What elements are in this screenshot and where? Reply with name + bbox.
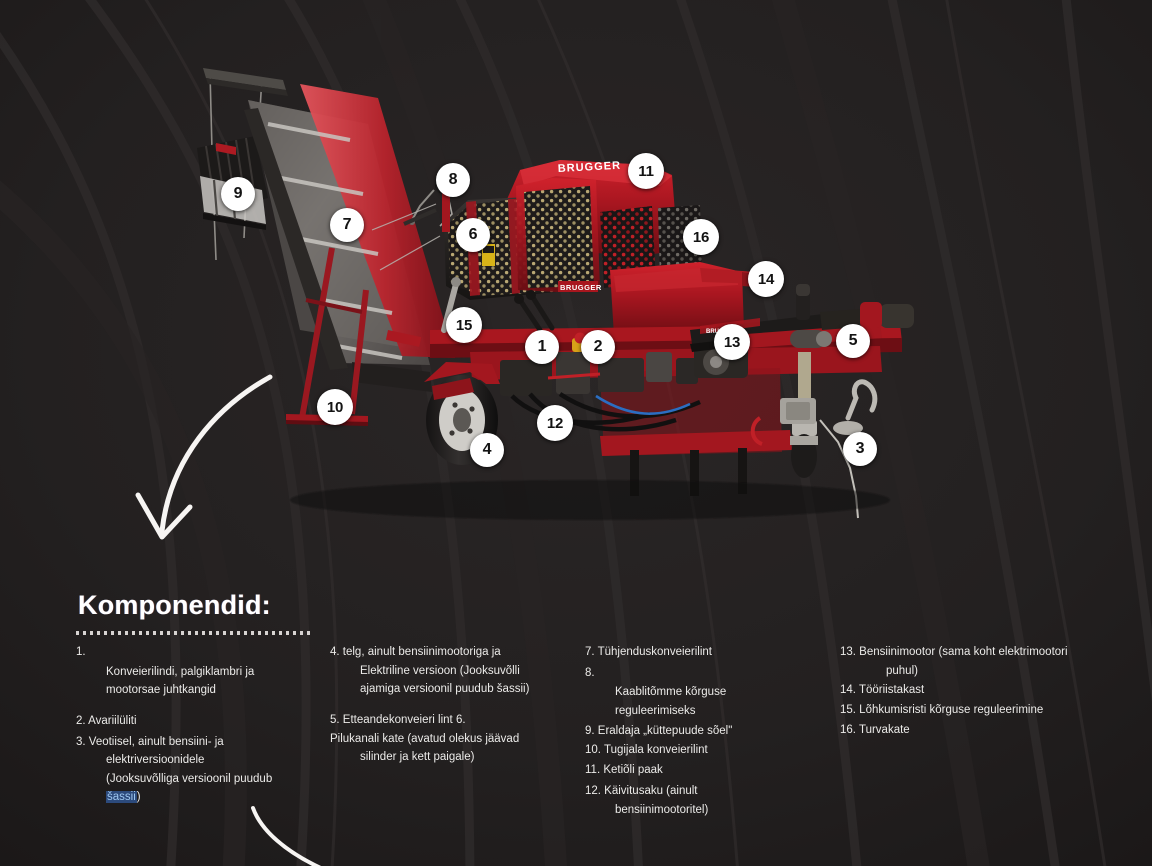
list-item-4-line3: ajamiga versioonil puudub šassii) (330, 680, 570, 699)
list-item-3-line1: 3. Veotiisel, ainult bensiini- ja (76, 733, 311, 752)
list-item-5-line1: 5. Etteandekonveieri lint 6. (330, 711, 570, 730)
machine-photo: BRUGGER (0, 0, 1152, 560)
callout-badge-5[interactable]: 5 (836, 324, 870, 358)
callout-badge-15[interactable]: 15 (446, 307, 482, 343)
list-item-8-number: 8. (585, 664, 830, 683)
callout-badge-8[interactable]: 8 (436, 163, 470, 197)
page-root: BRUGGER (0, 0, 1152, 866)
sassii-link[interactable]: šassii (106, 791, 137, 803)
components-column-4: 13. Bensiinimootor (sama koht elektrimoo… (840, 643, 1105, 742)
callout-badge-10[interactable]: 10 (317, 389, 353, 425)
list-item-5-line3: silinder ja kett paigale) (330, 748, 570, 767)
list-item-2: 2. Avariilüliti (76, 712, 311, 731)
list-item-7: 7. Tühjenduskonveierilint (585, 643, 830, 662)
components-section: Komponendid: 1. Konveierilindi, palgikla… (0, 575, 1152, 866)
callout-badge-1[interactable]: 1 (525, 330, 559, 364)
list-item-4-line2: Elektriline versioon (Jooksuvõlli (330, 662, 570, 681)
list-item-1: 1. Konveierilindi, palgiklambri ja mooto… (76, 643, 311, 700)
list-item-4-line1: 4. telg, ainult bensiinimootoriga ja (330, 643, 570, 662)
list-item-13: 13. Bensiinimootor (sama koht elektrimoo… (840, 643, 1105, 680)
callout-badge-16[interactable]: 16 (683, 219, 719, 255)
list-item-14: 14. Tööriistakast (840, 682, 1105, 700)
list-item-3-close-paren: ) (137, 791, 141, 803)
components-column-1: 1. Konveierilindi, palgiklambri ja mooto… (76, 643, 311, 809)
callout-badge-2[interactable]: 2 (581, 330, 615, 364)
list-item-8: 8. Kaablitõmme kõrguse reguleerimiseks (585, 664, 830, 721)
callout-badge-7[interactable]: 7 (330, 208, 364, 242)
list-item-1-line2: mootorsae juhtkangid (76, 681, 311, 700)
list-item-9: 9. Eraldaja „küttepuude sõel" (585, 723, 830, 741)
callout-badge-14[interactable]: 14 (748, 261, 784, 297)
page-title: Komponendid: (78, 590, 271, 621)
list-item-15: 15. Lõhkumisristi kõrguse reguleerimine (840, 702, 1105, 720)
callout-badge-3[interactable]: 3 (843, 432, 877, 466)
list-item-12-line1: 12. Käivitusaku (ainult (585, 782, 830, 801)
list-item-13-line2: puhul) (840, 662, 1105, 681)
list-item-11: 11. Ketiõli paak (585, 762, 830, 780)
callout-badge-9[interactable]: 9 (221, 177, 255, 211)
list-item-3: 3. Veotiisel, ainult bensiini- ja elektr… (76, 733, 311, 808)
svg-text:BRUGGER: BRUGGER (560, 283, 602, 292)
dotted-divider (76, 631, 311, 635)
components-column-3: 7. Tühjenduskonveierilint 8. Kaablitõmme… (585, 643, 830, 821)
list-item-3-line3: (Jooksuvõlliga versioonil puudub (76, 770, 311, 789)
list-item-3-line4: šassii) (76, 788, 311, 807)
list-item-16: 16. Turvakate (840, 722, 1105, 740)
list-item-1-number: 1. (76, 643, 311, 662)
conveyor-assembly (197, 68, 455, 426)
callout-badge-11[interactable]: 11 (628, 153, 664, 189)
list-item-5: 5. Etteandekonveieri lint 6. Pilukanali … (330, 711, 570, 767)
list-item-4: 4. telg, ainult bensiinimootoriga ja Ele… (330, 643, 570, 699)
callout-badge-13[interactable]: 13 (714, 324, 750, 360)
callout-badge-4[interactable]: 4 (470, 433, 504, 467)
list-item-1-line1: Konveierilindi, palgiklambri ja (76, 663, 311, 682)
list-item-8-line2: reguleerimiseks (585, 702, 830, 721)
list-item-13-line1: 13. Bensiinimootor (sama koht elektrimoo… (840, 643, 1105, 662)
list-item-12-line2: bensiinimootoritel) (585, 801, 830, 820)
callout-badge-12[interactable]: 12 (537, 405, 573, 441)
components-column-2: 4. telg, ainult bensiinimootoriga ja Ele… (330, 643, 570, 769)
list-item-8-line1: Kaablitõmme kõrguse (585, 683, 830, 702)
list-item-10: 10. Tugijala konveierilint (585, 742, 830, 760)
list-item-5-line2: Pilukanali kate (avatud olekus jäävad (330, 730, 570, 749)
list-item-3-line2: elektriversioonidele (76, 751, 311, 770)
list-item-12: 12. Käivitusaku (ainult bensiinimootorit… (585, 782, 830, 819)
callout-badge-6[interactable]: 6 (456, 218, 490, 252)
